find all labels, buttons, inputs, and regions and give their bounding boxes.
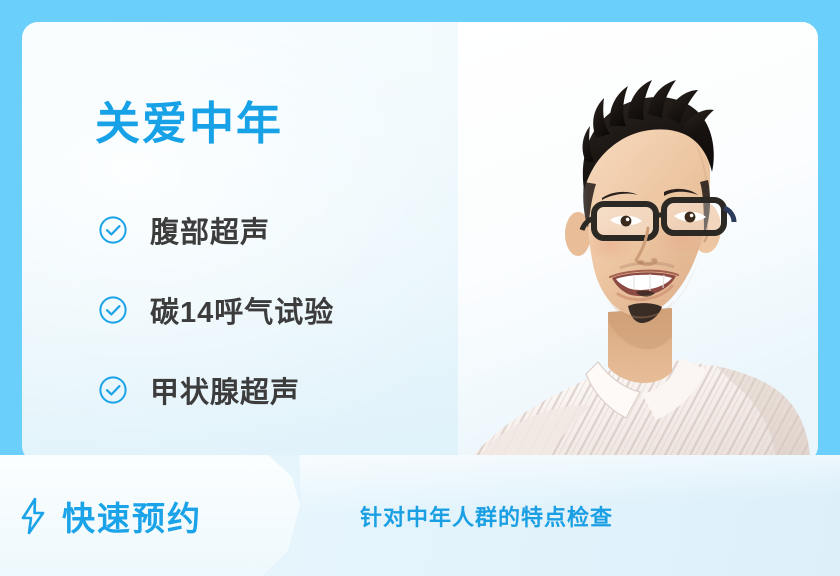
list-item-label: 碳14呼气试验 — [150, 289, 334, 331]
list-item-label: 甲状腺超声 — [150, 369, 300, 411]
bottom-bar: 快速预约 针对中年人群的特点检查 — [0, 455, 840, 576]
list-item: 腹部超声 — [98, 190, 518, 270]
package-card: 关爱中年 腹部超声 碳14呼气试验 — [22, 22, 818, 462]
check-circle-icon — [98, 375, 128, 405]
page-title: 关爱中年 — [95, 98, 283, 150]
check-circle-icon — [98, 295, 128, 325]
promo-banner: 关爱中年 腹部超声 碳14呼气试验 — [0, 0, 840, 576]
quick-book-button-content[interactable]: 快速预约 — [0, 455, 202, 576]
tagline: 针对中年人群的特点检查 — [360, 455, 613, 576]
list-item: 碳14呼气试验 — [98, 270, 518, 350]
list-item-label: 腹部超声 — [150, 209, 270, 251]
lightning-bolt-icon — [18, 496, 48, 536]
feature-list: 腹部超声 碳14呼气试验 甲状腺超声 — [98, 190, 518, 430]
check-circle-icon — [98, 215, 128, 245]
quick-book-label: 快速预约 — [62, 492, 202, 540]
list-item: 甲状腺超声 — [98, 350, 518, 430]
